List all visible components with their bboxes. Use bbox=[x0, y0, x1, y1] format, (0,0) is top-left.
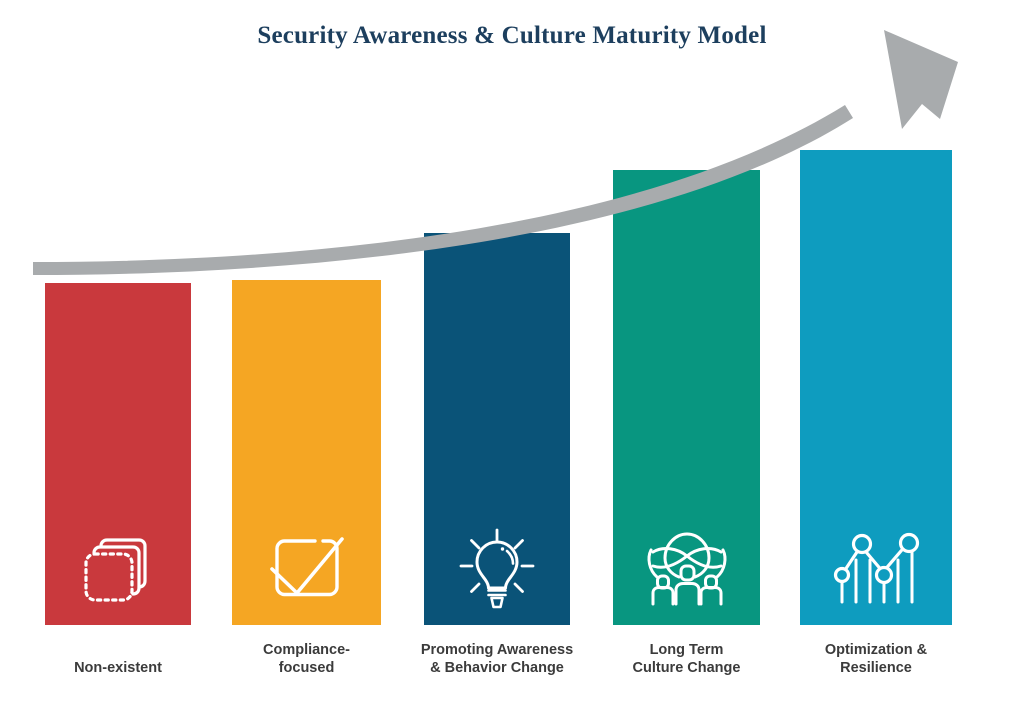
line-chart-icon bbox=[833, 525, 919, 611]
lightbulb-idea-icon bbox=[454, 525, 540, 611]
people-atom-icon bbox=[644, 525, 730, 611]
stage-label: Optimization & Resilience bbox=[761, 641, 991, 677]
stage-promoting-awareness: Promoting Awareness & Behavior Change bbox=[424, 0, 570, 713]
checkbox-check-icon bbox=[264, 525, 350, 611]
stage-non-existent: Non-existent bbox=[45, 0, 191, 713]
stacked-documents-icon bbox=[75, 525, 161, 611]
stage-optimization-resilience: Optimization & Resilience bbox=[800, 0, 952, 713]
maturity-model-diagram: Security Awareness & Culture Maturity Mo… bbox=[0, 0, 1024, 713]
stage-compliance-focused: Compliance- focused bbox=[232, 0, 381, 713]
stage-long-term-culture-change: Long Term Culture Change bbox=[613, 0, 760, 713]
